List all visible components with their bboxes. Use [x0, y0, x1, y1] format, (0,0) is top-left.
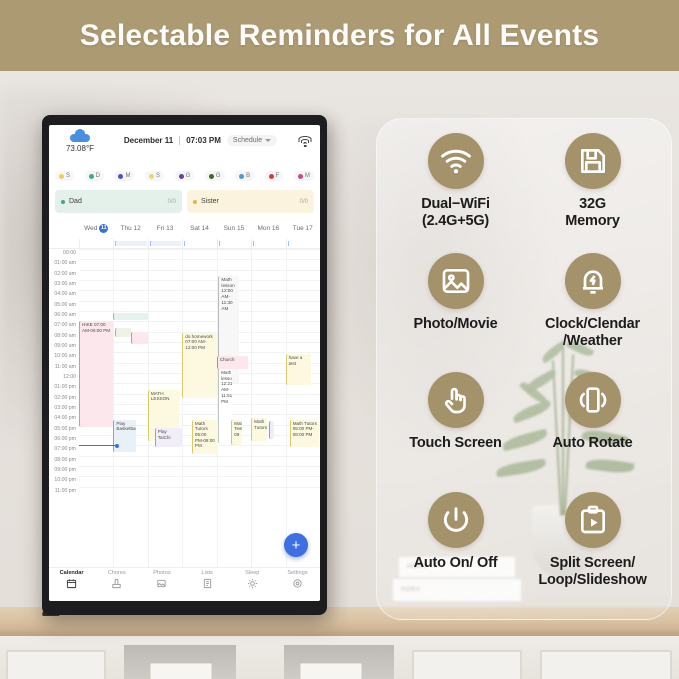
time-axis-label: 03:00 pm — [49, 405, 79, 411]
feature-item: Touch Screen — [387, 372, 524, 492]
feature-icon-badge — [428, 253, 484, 309]
member-chip[interactable]: M — [114, 171, 134, 181]
credenza-door — [412, 650, 522, 679]
auto-rotate-icon — [577, 384, 609, 416]
wifi-icon[interactable] — [298, 136, 312, 147]
nav-item-sleep[interactable]: Sleep — [230, 570, 275, 601]
day-header-label: Sat 14 — [190, 225, 209, 232]
all-day-cell[interactable] — [286, 239, 320, 248]
day-header-cell[interactable]: Mon 16 — [251, 225, 285, 232]
all-day-row — [49, 239, 320, 249]
nav-item-label: Lists — [201, 570, 213, 576]
feature-caption: Split Screen/Loop/Slideshow — [538, 555, 646, 589]
day-header-cell[interactable]: Sat 14 — [182, 225, 216, 232]
member-chip-label: B — [246, 173, 250, 179]
time-axis-label: 03:00 am — [49, 281, 79, 287]
time-axis-label: 01:00 pm — [49, 384, 79, 390]
member-filter-chips: SDMSGGBFM — [49, 165, 320, 187]
member-chip-label: S — [156, 173, 160, 179]
time-axis-label: 05:00 am — [49, 302, 79, 308]
member-chip-label: D — [96, 173, 100, 179]
member-chip[interactable]: B — [235, 171, 254, 181]
calendar-event[interactable] — [269, 421, 274, 440]
time-axis-label: 02:00 pm — [49, 395, 79, 401]
nav-item-lists[interactable]: Lists — [185, 570, 230, 601]
member-chip[interactable]: D — [85, 171, 104, 181]
nav-item-label: Settings — [287, 570, 307, 576]
all-day-event[interactable] — [115, 241, 146, 246]
member-chip[interactable]: S — [145, 171, 164, 181]
feature-caption: 32GMemory — [565, 196, 619, 230]
feature-item: Dual−WiFi(2.4G+5G) — [387, 133, 524, 253]
all-day-cell[interactable] — [113, 239, 147, 248]
status-bar: 73.08°F December 11 07:03 PM Schedule — [49, 125, 320, 165]
calendar-event[interactable]: Math Tutors — [251, 418, 266, 441]
today-badge: 11 — [99, 224, 108, 233]
member-color-dot — [239, 174, 244, 179]
feature-caption-line2: (2.4G+5G) — [421, 213, 490, 230]
feature-caption-line1: Touch Screen — [409, 435, 501, 452]
date-label: December 11 — [124, 136, 173, 145]
date-time-group: December 11 07:03 PM Schedule — [103, 130, 298, 146]
calendar-event[interactable]: Math Tutors 05:00 PM-08:00 PM — [192, 420, 218, 454]
floppy-disk-icon — [577, 145, 609, 177]
day-header-cell[interactable]: Sun 15 — [217, 225, 251, 232]
alarm-bell-icon — [577, 265, 609, 297]
feature-caption-line1: Photo/Movie — [414, 316, 498, 333]
power-icon — [440, 504, 472, 536]
time-axis-label: 08:00 am — [49, 333, 79, 339]
grid-hour-line — [79, 280, 320, 281]
feature-caption-line2: Loop/Slideshow — [538, 572, 646, 589]
day-header-label: Thu 12 — [121, 225, 141, 232]
wifi-icon — [439, 144, 473, 178]
member-color-dot — [149, 174, 154, 179]
feature-caption: Touch Screen — [409, 435, 501, 452]
time-axis-label: 12:00 — [49, 374, 79, 380]
nav-item-label: Sleep — [245, 570, 259, 576]
time-axis-label: 11:00 am — [49, 364, 79, 370]
photo-icon — [440, 265, 472, 297]
grid-hour-line — [79, 311, 320, 312]
feature-panel: Dual−WiFi(2.4G+5G)32GMemoryPhoto/MovieCl… — [376, 118, 672, 620]
calendar-event[interactable] — [131, 332, 148, 344]
time-axis-label: 01:00 am — [49, 260, 79, 266]
calendar-event[interactable]: Math lesson 12:21 AM-11:51 PM — [218, 369, 232, 443]
time-axis-label: 06:00 am — [49, 312, 79, 318]
day-header-cell[interactable]: Fri 13 — [148, 225, 182, 232]
all-day-event[interactable] — [150, 241, 181, 246]
feature-caption-line2: Memory — [565, 213, 619, 230]
weather-widget[interactable]: 73.08°F — [57, 130, 103, 153]
all-day-cell[interactable] — [217, 239, 251, 248]
calendar-event[interactable]: do homework 07:00 AM-12:00 PM — [182, 333, 216, 398]
grid-day-line — [182, 249, 183, 567]
all-day-cell[interactable] — [251, 239, 285, 248]
task-count-label: 0/0 — [168, 199, 176, 205]
feature-icon-badge — [565, 253, 621, 309]
calendar-event[interactable]: have a test — [286, 354, 312, 385]
time-axis-label: 06:00 pm — [49, 436, 79, 442]
task-owner-label: Dad — [69, 198, 164, 205]
grid-hour-line — [79, 290, 320, 291]
current-time-line — [79, 445, 115, 446]
task-count-label: 0/0 — [300, 199, 308, 205]
feature-icon-badge — [428, 133, 484, 189]
current-time-dot — [115, 444, 119, 448]
feature-item: Auto Rotate — [524, 372, 661, 492]
schedule-dropdown[interactable]: Schedule — [227, 135, 277, 146]
day-header-label: Tue 17 — [293, 225, 313, 232]
feature-caption-line1: Auto Rotate — [553, 435, 633, 452]
day-header-label: Fri 13 — [157, 225, 174, 232]
feature-caption: Auto Rotate — [553, 435, 633, 452]
touch-hand-icon — [440, 384, 472, 416]
header-banner: Selectable Reminders for All Events — [0, 0, 679, 71]
member-color-dot — [118, 174, 123, 179]
feature-caption-line1: Auto On/ Off — [414, 555, 498, 572]
temperature-label: 73.08°F — [66, 144, 94, 153]
calendar-event[interactable] — [113, 313, 147, 320]
time-axis-label: 10:00 pm — [49, 477, 79, 483]
feature-item: Auto On/ Off — [387, 492, 524, 612]
schedule-dropdown-label: Schedule — [233, 137, 262, 144]
feature-item: 32GMemory — [524, 133, 661, 253]
credenza-door — [540, 650, 672, 679]
feature-caption-line1: Split Screen/ — [538, 555, 646, 572]
all-day-event[interactable] — [184, 241, 196, 246]
feature-icon-badge — [428, 492, 484, 548]
member-color-dot — [179, 174, 184, 179]
credenza-door — [6, 650, 106, 679]
grid-day-line — [286, 249, 287, 567]
feature-caption: Auto On/ Off — [414, 555, 498, 572]
time-axis-label: 09:00 am — [49, 343, 79, 349]
all-day-event[interactable] — [253, 241, 265, 246]
grid-hour-line — [79, 414, 320, 415]
tablet-device: 73.08°F December 11 07:03 PM Schedule SD… — [42, 115, 327, 615]
grid-hour-line — [79, 476, 320, 477]
grid-day-line — [251, 249, 252, 567]
grid-hour-line — [79, 321, 320, 322]
grid-hour-line — [79, 466, 320, 467]
calendar-event[interactable]: Math Tutors 05:00 PM-08:00 PM — [290, 420, 320, 448]
settings-icon — [292, 578, 303, 589]
add-event-button[interactable]: + — [284, 533, 308, 557]
feature-item: Clock/Clendar/Weather — [524, 253, 661, 373]
task-color-dot — [193, 200, 197, 204]
all-day-cell[interactable] — [148, 239, 182, 248]
clipboard-play-icon — [577, 504, 609, 536]
grid-hour-line — [79, 456, 320, 457]
member-chip-label: S — [66, 173, 70, 179]
feature-icon-badge — [565, 372, 621, 428]
member-color-dot — [298, 174, 303, 179]
feature-item: Photo/Movie — [387, 253, 524, 373]
time-label: 07:03 PM — [186, 136, 221, 145]
task-color-dot — [61, 200, 65, 204]
time-axis-label: 05:00 pm — [49, 426, 79, 432]
banner-title: Selectable Reminders for All Events — [80, 19, 599, 53]
grid-hour-line — [79, 259, 320, 260]
day-header-label: Wed — [84, 225, 97, 232]
chevron-down-icon — [265, 139, 271, 142]
grid-hour-line — [79, 301, 320, 302]
task-card[interactable]: Sister0/0 — [187, 190, 314, 213]
nav-item-label: Calendar — [60, 570, 84, 576]
feature-caption-line1: 32G — [565, 196, 619, 213]
day-columns[interactable]: HIKE 07:00 AM-05:00 PMMath lesson 12:00 … — [79, 249, 320, 567]
feature-caption-line1: Clock/Clendar — [545, 316, 640, 333]
time-axis-label: 00:00 — [49, 250, 79, 256]
grid-day-line — [113, 249, 114, 567]
day-header-cell[interactable]: Tue 17 — [286, 225, 320, 232]
member-chip-label: G — [216, 173, 221, 179]
member-chip-label: M — [305, 173, 310, 179]
feature-caption-line1: Dual−WiFi — [421, 196, 490, 213]
cubby-storage-box — [150, 663, 212, 679]
nav-item-settings[interactable]: Settings — [275, 570, 320, 601]
feature-icon-badge — [428, 372, 484, 428]
divider — [179, 136, 180, 145]
all-day-cell[interactable] — [79, 239, 113, 248]
grid-hour-line — [79, 404, 320, 405]
day-header-label: Sun 15 — [224, 225, 245, 232]
calendar-grid[interactable]: 00:0001:00 am02:00 am03:00 am04:00 am05:… — [49, 249, 320, 567]
member-chip-label: M — [125, 173, 130, 179]
task-cards: Dad0/0Sister0/0 — [49, 187, 320, 217]
nav-item-chores[interactable]: Chores — [94, 570, 139, 601]
time-axis-label: 07:00 pm — [49, 446, 79, 452]
member-chip[interactable]: G — [175, 171, 195, 181]
member-chip[interactable]: S — [55, 171, 74, 181]
member-chip[interactable]: F — [265, 171, 284, 181]
time-axis-label: 08:00 pm — [49, 457, 79, 463]
bottom-navigation: CalendarChoresPhotosListsSleepSettings — [49, 567, 320, 601]
member-chip-label: F — [276, 173, 280, 179]
feature-icon-badge — [565, 492, 621, 548]
time-axis-label: 09:00 pm — [49, 467, 79, 473]
tablet-screen[interactable]: 73.08°F December 11 07:03 PM Schedule SD… — [49, 125, 320, 601]
calendar-event[interactable]: Church — [217, 356, 248, 368]
member-chip-label: G — [186, 173, 191, 179]
day-header-cell[interactable]: Wed11 — [79, 224, 113, 233]
grid-hour-line — [79, 487, 320, 488]
calendar-event[interactable] — [115, 328, 130, 337]
calendar-event[interactable]: HIKE 07:00 AM-05:00 PM — [79, 321, 113, 426]
grid-hour-line — [79, 270, 320, 271]
nav-item-label: Photos — [153, 570, 170, 576]
feature-item: Split Screen/Loop/Slideshow — [524, 492, 661, 612]
feature-caption: Clock/Clendar/Weather — [545, 316, 640, 350]
all-day-cell[interactable] — [182, 239, 216, 248]
day-header-label: Mon 16 — [257, 225, 279, 232]
chores-icon — [111, 578, 122, 589]
feature-caption: Photo/Movie — [414, 316, 498, 333]
all-day-event[interactable] — [288, 241, 300, 246]
cloud-icon — [70, 130, 90, 142]
cubby-storage-box — [300, 663, 362, 679]
time-axis-label: 02:00 am — [49, 271, 79, 277]
feature-caption: Dual−WiFi(2.4G+5G) — [421, 196, 490, 230]
calendar-event[interactable]: Math Test 09 — [231, 420, 241, 446]
member-color-dot — [209, 174, 214, 179]
member-color-dot — [89, 174, 94, 179]
nav-item-label: Chores — [108, 570, 126, 576]
member-chip[interactable]: G — [205, 171, 225, 181]
time-axis: 00:0001:00 am02:00 am03:00 am04:00 am05:… — [49, 249, 79, 567]
all-day-event[interactable] — [219, 241, 231, 246]
time-axis-label: 04:00 am — [49, 291, 79, 297]
task-card[interactable]: Dad0/0 — [55, 190, 182, 213]
nav-item-photos[interactable]: Photos — [139, 570, 184, 601]
calendar-icon — [66, 578, 77, 589]
feature-caption-line2: /Weather — [545, 333, 640, 350]
grid-hour-line — [79, 249, 320, 250]
task-owner-label: Sister — [201, 198, 296, 205]
lists-icon — [202, 578, 213, 589]
calendar-event[interactable]: Play TaiChi — [155, 428, 183, 448]
member-color-dot — [269, 174, 274, 179]
time-axis-label: 10:00 am — [49, 353, 79, 359]
feature-icon-badge — [565, 133, 621, 189]
day-header-cell[interactable]: Thu 12 — [113, 225, 147, 232]
time-axis-label: 07:00 am — [49, 322, 79, 328]
time-axis-label: 11:00 pm — [49, 488, 79, 494]
photos-icon — [156, 578, 167, 589]
nav-item-calendar[interactable]: Calendar — [49, 570, 94, 601]
member-color-dot — [59, 174, 64, 179]
sleep-icon — [247, 578, 258, 589]
member-chip[interactable]: M — [294, 171, 314, 181]
day-header-row: Wed11Thu 12Fri 13Sat 14Sun 15Mon 16Tue 1… — [49, 217, 320, 239]
time-axis-label: 04:00 pm — [49, 415, 79, 421]
